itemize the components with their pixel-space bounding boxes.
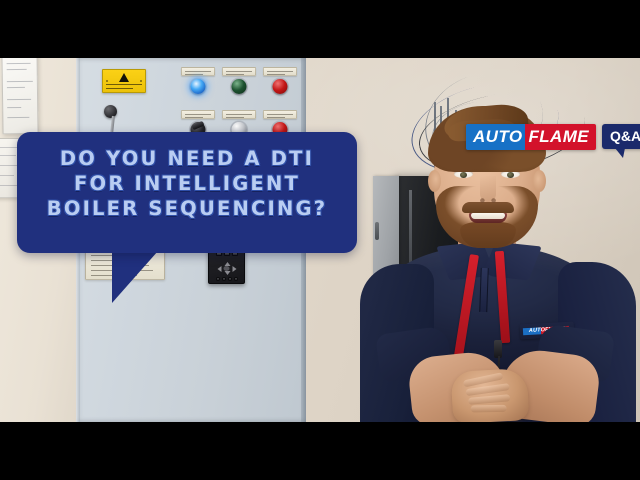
polo-placket <box>479 268 489 312</box>
keypad-round-button[interactable] <box>216 277 220 281</box>
ear-left <box>428 170 441 192</box>
caption-line-2: FOR INTELLIGENT <box>17 171 357 196</box>
qa-badge-tail <box>615 148 625 158</box>
speech-bubble: DO YOU NEED A DTI FOR INTELLIGENT BOILER… <box>17 132 357 253</box>
panel-button-r2c2[interactable] <box>222 110 256 119</box>
logo-text-auto: AUTO <box>466 124 525 150</box>
keypad-dpad[interactable] <box>217 262 236 275</box>
panel-button-r2c3[interactable] <box>263 110 297 119</box>
qa-badge-label: Q&A <box>610 128 640 144</box>
button-label-tag <box>263 110 297 119</box>
button-label-tag <box>181 67 215 76</box>
letterbox-bar-bottom <box>0 422 640 480</box>
hazard-triangle-icon <box>119 73 129 82</box>
iris-left <box>460 172 467 179</box>
panel-button-r1c3[interactable] <box>263 67 297 76</box>
key-switch[interactable] <box>104 105 117 118</box>
arrow-left-icon[interactable] <box>217 266 221 272</box>
caption-text: DO YOU NEED A DTI FOR INTELLIGENT BOILER… <box>17 146 357 221</box>
indicator-lamp-blue[interactable] <box>191 79 206 94</box>
caption-line-1: DO YOU NEED A DTI <box>17 146 357 171</box>
arrow-right-icon[interactable] <box>232 266 236 272</box>
panel-button-r1c2[interactable] <box>222 67 256 76</box>
autoflame-logo: AUTO FLAME Q&A <box>466 124 640 150</box>
electrical-hazard-warning-label <box>102 69 146 93</box>
chin-beard <box>460 222 516 248</box>
qa-badge: Q&A <box>602 124 640 149</box>
button-label-tag <box>181 110 215 119</box>
indicator-lamp-green[interactable] <box>232 79 247 94</box>
button-label-tag <box>263 67 297 76</box>
video-viewport: EMERGENCY <box>0 58 640 422</box>
caption-line-3: BOILER SEQUENCING? <box>17 196 357 221</box>
ear-right <box>533 170 546 192</box>
keypad-round-button[interactable] <box>228 277 232 281</box>
mouth <box>469 212 507 223</box>
button-label-tag <box>222 110 256 119</box>
mustache <box>462 202 514 213</box>
clasped-hands <box>451 368 530 422</box>
video-frame: EMERGENCY <box>0 0 640 480</box>
keypad-round-button[interactable] <box>234 277 238 281</box>
autoflame-wordmark: AUTO FLAME <box>466 124 596 150</box>
logo-text-flame: FLAME <box>525 124 596 150</box>
arrow-down-icon[interactable] <box>224 271 230 275</box>
wall-document-upper <box>1 58 38 134</box>
panel-button-r1c1[interactable] <box>181 67 215 76</box>
iris-right <box>507 172 514 179</box>
teeth <box>471 213 505 219</box>
panel-button-r2c1[interactable] <box>181 110 215 119</box>
presenter-person: AUTOFLAME <box>352 58 640 422</box>
keypad-enter-button[interactable] <box>224 266 230 271</box>
indicator-lamp-red[interactable] <box>273 79 288 94</box>
button-label-tag <box>222 67 256 76</box>
letterbox-bar-top <box>0 0 640 58</box>
speech-bubble-tail <box>112 251 158 303</box>
nostrils <box>478 198 498 203</box>
keypad-bottom-row[interactable] <box>209 277 244 281</box>
keypad-round-button[interactable] <box>222 277 226 281</box>
